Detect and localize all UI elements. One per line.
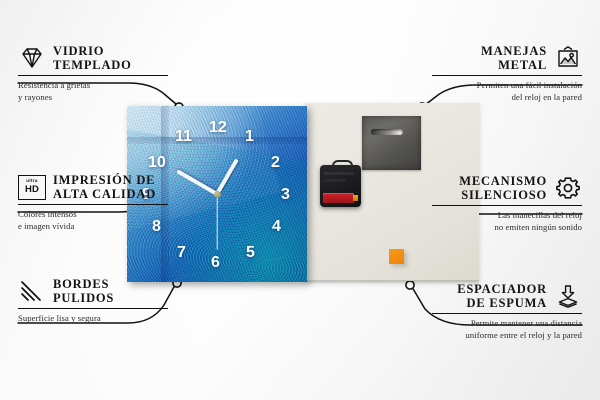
clock-numeral: 6: [211, 255, 220, 271]
callout-rule: [432, 205, 582, 206]
callout-desc-line1: Permite mantener una distancia: [432, 318, 582, 329]
callout-desc-line2: no emiten ningún sonido: [432, 222, 582, 233]
diagonal-stripes-icon: [18, 279, 46, 303]
callout-header: MANEJAS METAL: [432, 44, 582, 72]
callout-vidrio-templado: VIDRIO TEMPLADO Resistencia a grietas y …: [18, 44, 168, 103]
battery-label: [323, 193, 354, 203]
callout-manejas-metal: MANEJAS METAL Permiten una fácil instala…: [432, 44, 582, 103]
callout-header: VIDRIO TEMPLADO: [18, 44, 168, 72]
callout-title-line1: VIDRIO: [53, 44, 132, 58]
callout-rule: [18, 308, 168, 309]
callout-rule: [18, 204, 168, 205]
callout-mecanismo-silencioso: MECANISMO SILENCIOSO Las manecillas del …: [432, 174, 582, 233]
foam-spacer: [389, 249, 404, 264]
callout-rule: [432, 75, 582, 76]
callout-bordes-pulidos: BORDES PULIDOS Superficie lisa y segura: [18, 277, 168, 325]
callout-title-line1: MECANISMO: [432, 174, 547, 188]
clock-center-cap: [214, 191, 221, 198]
mechanism-loop: [332, 160, 353, 171]
callout-title-line2: SILENCIOSO: [432, 188, 547, 202]
callout-espaciador-espuma: ESPACIADOR DE ESPUMA Permite mantener un…: [432, 282, 582, 341]
callout-desc-line1: Resistencia a grietas: [18, 80, 168, 91]
callout-title-line1: MANEJAS: [432, 44, 547, 58]
clock-numeral: 5: [246, 245, 255, 261]
clock-numeral: 2: [271, 155, 280, 171]
metal-hanger-plate: [362, 116, 421, 170]
ultra-hd-icon: ultra HD: [18, 175, 46, 200]
callout-header: BORDES PULIDOS: [18, 277, 168, 305]
callout-desc-line2: del reloj en la pared: [432, 92, 582, 103]
callout-impresion-alta-calidad: ultra HD IMPRESIÓN DE ALTA CALIDAD Color…: [18, 173, 168, 232]
product-photo: 12 1 2 3 4 5 6 7 8 9 10 11: [127, 103, 479, 283]
callout-desc-line2: uniforme entre el reloj y la pared: [432, 330, 582, 341]
clock-numeral: 11: [175, 129, 192, 145]
diamond-icon: [18, 46, 46, 70]
callout-title-line2: METAL: [432, 58, 547, 72]
callout-rule: [18, 75, 168, 76]
mechanism-ridge: [324, 179, 346, 182]
callout-desc-line1: Permiten una fácil instalación: [432, 80, 582, 91]
callout-title-line2: TEMPLADO: [53, 58, 132, 72]
callout-rule: [432, 313, 582, 314]
silent-clock-mechanism: [320, 165, 361, 207]
callout-desc-line1: Las manecillas del reloj: [432, 210, 582, 221]
callout-desc-line1: Colores intensos: [18, 209, 168, 220]
callout-title-line2: ALTA CALIDAD: [53, 187, 156, 201]
clock-numeral: 12: [209, 120, 227, 136]
callout-desc-line1: Superficie lisa y segura: [18, 313, 168, 324]
clock-numeral: 10: [148, 155, 166, 171]
ultra-hd-icon-main-text: HD: [25, 185, 39, 195]
callout-desc-line2: e imagen vívida: [18, 221, 168, 232]
infographic-canvas: 12 1 2 3 4 5 6 7 8 9 10 11: [0, 0, 600, 400]
callout-title-line1: ESPACIADOR: [432, 282, 547, 296]
clock-second-hand: [216, 194, 217, 250]
hanger-slot: [371, 129, 403, 135]
callout-desc-line2: y rayones: [18, 92, 168, 103]
mechanism-ridge: [324, 172, 354, 175]
clock-numeral: 7: [177, 245, 186, 261]
arrow-down-layers-icon: [554, 284, 582, 308]
callout-header: ultra HD IMPRESIÓN DE ALTA CALIDAD: [18, 173, 168, 201]
clock-numeral: 4: [272, 219, 281, 235]
callout-title-line2: PULIDOS: [53, 291, 114, 305]
clock-numeral: 1: [245, 129, 254, 145]
callout-header: ESPACIADOR DE ESPUMA: [432, 282, 582, 310]
callout-title-line2: DE ESPUMA: [432, 296, 547, 310]
gear-icon: [554, 176, 582, 200]
callout-header: MECANISMO SILENCIOSO: [432, 174, 582, 202]
framed-picture-hanging-icon: [554, 46, 582, 70]
clock-numeral: 3: [281, 187, 290, 203]
callout-title-line1: BORDES: [53, 277, 114, 291]
callout-title-line1: IMPRESIÓN DE: [53, 173, 156, 187]
